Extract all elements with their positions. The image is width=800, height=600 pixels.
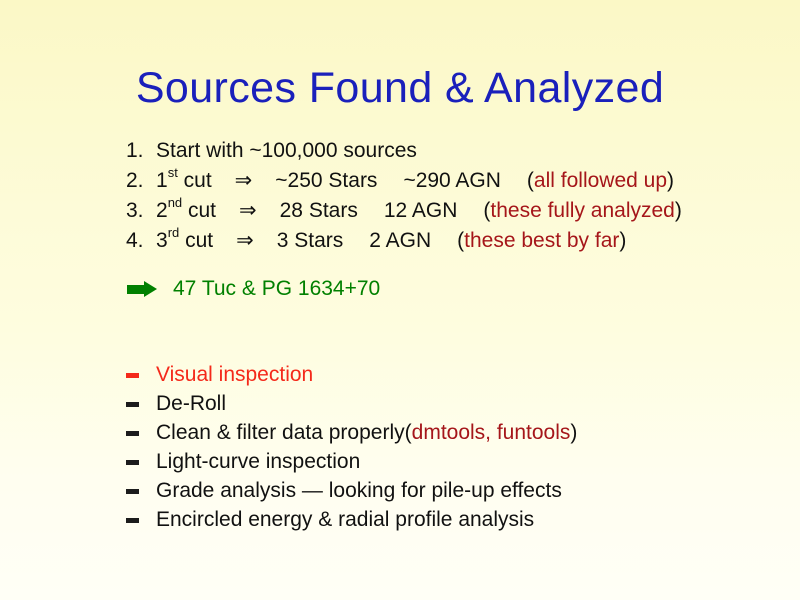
callout-row: 47 Tuc & PG 1634+70: [127, 275, 380, 303]
list-item: 4.3rd cut⇒3 Stars2 AGN(these best by far…: [126, 226, 682, 256]
list-item-text: Start with ~100,000 sources: [156, 139, 417, 162]
list-item: 3.2nd cut⇒28 Stars12 AGN(these fully ana…: [126, 196, 682, 226]
dash-bullet-icon: [126, 518, 139, 523]
implies-arrow-icon: ⇒: [232, 166, 256, 196]
page-title: Sources Found & Analyzed: [0, 64, 800, 113]
note-text: these best by far: [464, 229, 619, 252]
list-item-text-tail: cut: [182, 199, 216, 222]
list-item-text: 1: [156, 169, 168, 192]
bullet-text: Visual inspection: [156, 360, 313, 389]
bullet-text: De-Roll: [156, 389, 226, 418]
list-item-number: 4.: [126, 226, 156, 256]
stars-count: 28 Stars: [280, 199, 358, 222]
note-paren-open: (: [405, 418, 412, 447]
superscript-ordinal: rd: [168, 225, 180, 240]
superscript-ordinal: st: [168, 165, 178, 180]
list-item: 1.Start with ~100,000 sources: [126, 136, 682, 166]
stars-count: 3 Stars: [277, 229, 344, 252]
list-item-number: 1.: [126, 136, 156, 166]
dash-bullet-icon: [126, 460, 139, 465]
list-item: Visual inspection: [126, 360, 577, 389]
dash-bullet-icon: [126, 402, 139, 407]
list-item-number: 3.: [126, 196, 156, 226]
callout-text: 47 Tuc & PG 1634+70: [173, 277, 380, 300]
note-paren-close: ): [570, 418, 577, 447]
list-item-number: 2.: [126, 166, 156, 196]
bullet-text: Encircled energy & radial profile analys…: [156, 505, 534, 534]
agn-count: ~290 AGN: [403, 169, 500, 192]
note-paren-close: ): [667, 169, 674, 192]
note-paren-close: ): [619, 229, 626, 252]
dash-bullet-icon: [126, 431, 139, 436]
note-text: all followed up: [534, 169, 667, 192]
numbered-list: 1.Start with ~100,000 sources 2.1st cut⇒…: [126, 136, 682, 256]
note-text: these fully analyzed: [490, 199, 674, 222]
note-paren-close: ): [675, 199, 682, 222]
agn-count: 2 AGN: [369, 229, 431, 252]
note-paren-open: (: [527, 169, 534, 192]
bullet-text: Light-curve inspection: [156, 447, 360, 476]
list-item: Encircled energy & radial profile analys…: [126, 505, 577, 534]
list-item: 2.1st cut⇒~250 Stars~290 AGN(all followe…: [126, 166, 682, 196]
dash-bullet-icon: [126, 489, 139, 494]
bullet-text: Grade analysis — looking for pile-up eff…: [156, 476, 562, 505]
slide-canvas: Sources Found & Analyzed 1.Start with ~1…: [0, 0, 800, 600]
bullet-text: Clean & filter data properly: [156, 418, 405, 447]
implies-arrow-icon: ⇒: [233, 226, 257, 256]
list-item-text: 3: [156, 229, 168, 252]
list-item-text-tail: cut: [178, 169, 212, 192]
note-text: dmtools, funtools: [412, 418, 571, 447]
agn-count: 12 AGN: [384, 199, 458, 222]
list-item-text: 2: [156, 199, 168, 222]
list-item-text-tail: cut: [179, 229, 213, 252]
bullet-list: Visual inspection De-Roll Clean & filter…: [126, 360, 577, 534]
right-block-arrow-icon: [127, 281, 157, 297]
superscript-ordinal: nd: [168, 195, 182, 210]
dash-bullet-icon: [126, 373, 139, 378]
list-item: Clean & filter data properly (dmtools, f…: [126, 418, 577, 447]
list-item: De-Roll: [126, 389, 577, 418]
list-item: Light-curve inspection: [126, 447, 577, 476]
implies-arrow-icon: ⇒: [236, 196, 260, 226]
stars-count: ~250 Stars: [275, 169, 377, 192]
list-item: Grade analysis — looking for pile-up eff…: [126, 476, 577, 505]
